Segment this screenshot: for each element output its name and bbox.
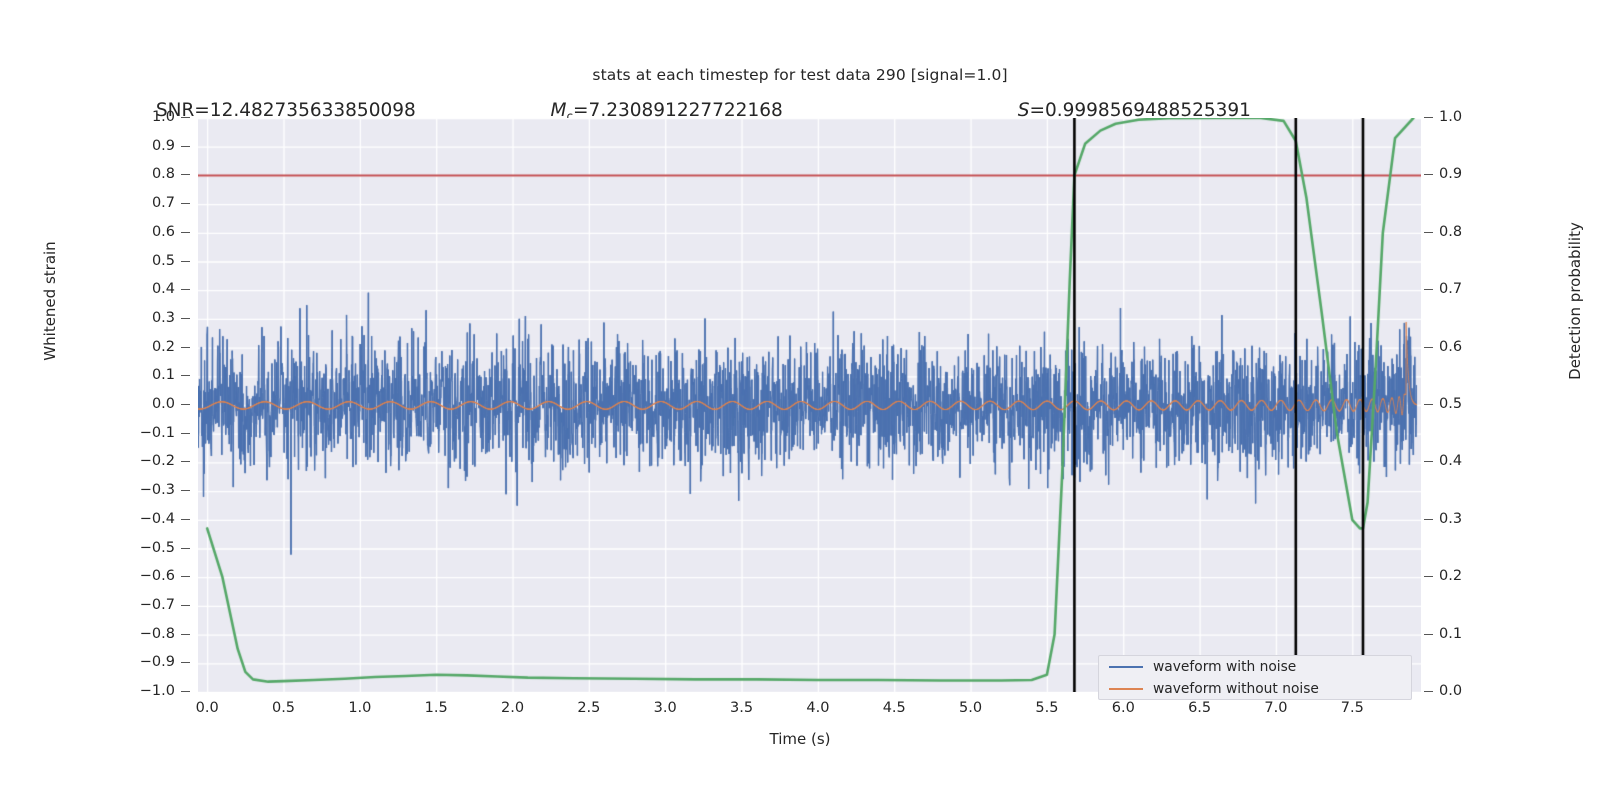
y-tick-right: 0.8: [1424, 224, 1564, 240]
y-tick-right: 0.7: [1424, 281, 1564, 297]
x-tick: 2.0: [473, 700, 553, 716]
y-tick-right: 0.3: [1424, 511, 1564, 527]
y-tick-left: −0.3: [60, 482, 190, 498]
legend-label: waveform without noise: [1153, 681, 1319, 697]
x-tick: 6.0: [1083, 700, 1163, 716]
plot-area: [198, 118, 1421, 692]
x-tick: 1.0: [320, 700, 400, 716]
y-tick-left: 0.7: [60, 195, 190, 211]
x-tick: 4.0: [778, 700, 858, 716]
y-tick-left: 0.1: [60, 367, 190, 383]
y-axis-left-label: Whitened strain: [41, 181, 59, 421]
y-tick-left: 0.9: [60, 138, 190, 154]
y-tick-left: −0.9: [60, 654, 190, 670]
y-tick-right: 1.0: [1424, 109, 1564, 125]
y-tick-left: 0.6: [60, 224, 190, 240]
x-tick: 4.5: [854, 700, 934, 716]
x-tick: 0.5: [244, 700, 324, 716]
y-axis-right-label: Detection probability: [1566, 181, 1584, 421]
x-tick: 3.5: [702, 700, 782, 716]
y-tick-left: 0.8: [60, 166, 190, 182]
y-tick-right: 0.6: [1424, 339, 1564, 355]
y-tick-right: 0.2: [1424, 568, 1564, 584]
y-tick-left: 0.4: [60, 281, 190, 297]
x-tick: 6.5: [1160, 700, 1240, 716]
y-tick-left: −0.5: [60, 540, 190, 556]
y-tick-left: −1.0: [60, 683, 190, 699]
legend-swatch-noisy: [1109, 666, 1143, 668]
page-title: stats at each timestep for test data 290…: [0, 66, 1600, 84]
y-tick-left: −0.8: [60, 626, 190, 642]
x-tick: 2.5: [549, 700, 629, 716]
y-tick-left: −0.7: [60, 597, 190, 613]
y-tick-right: 0.5: [1424, 396, 1564, 412]
legend-item: waveform without noise: [1099, 678, 1411, 700]
y-tick-left: −0.6: [60, 568, 190, 584]
y-tick-right: 0.0: [1424, 683, 1564, 699]
x-tick: 1.5: [396, 700, 476, 716]
y-tick-left: 0.0: [60, 396, 190, 412]
x-tick: 7.0: [1236, 700, 1316, 716]
legend-box: waveform with noise waveform without noi…: [1098, 655, 1412, 700]
x-axis-label: Time (s): [0, 730, 1600, 748]
y-tick-right: 0.4: [1424, 453, 1564, 469]
legend-item: waveform with noise: [1099, 656, 1411, 678]
y-tick-left: −0.1: [60, 425, 190, 441]
figure-canvas: stats at each timestep for test data 290…: [0, 0, 1600, 800]
plot-canvas: [198, 118, 1421, 692]
legend-swatch-clean: [1109, 688, 1143, 690]
y-tick-left: 0.2: [60, 339, 190, 355]
x-tick: 5.5: [1007, 700, 1087, 716]
y-tick-left: −0.4: [60, 511, 190, 527]
y-tick-left: 0.3: [60, 310, 190, 326]
y-tick-right: 0.9: [1424, 166, 1564, 182]
y-tick-left: 0.5: [60, 253, 190, 269]
x-tick: 3.0: [625, 700, 705, 716]
y-tick-right: 0.1: [1424, 626, 1564, 642]
legend-label: waveform with noise: [1153, 659, 1296, 675]
x-tick: 0.0: [167, 700, 247, 716]
x-tick: 7.5: [1312, 700, 1392, 716]
x-tick: 5.0: [931, 700, 1011, 716]
y-tick-left: −0.2: [60, 453, 190, 469]
